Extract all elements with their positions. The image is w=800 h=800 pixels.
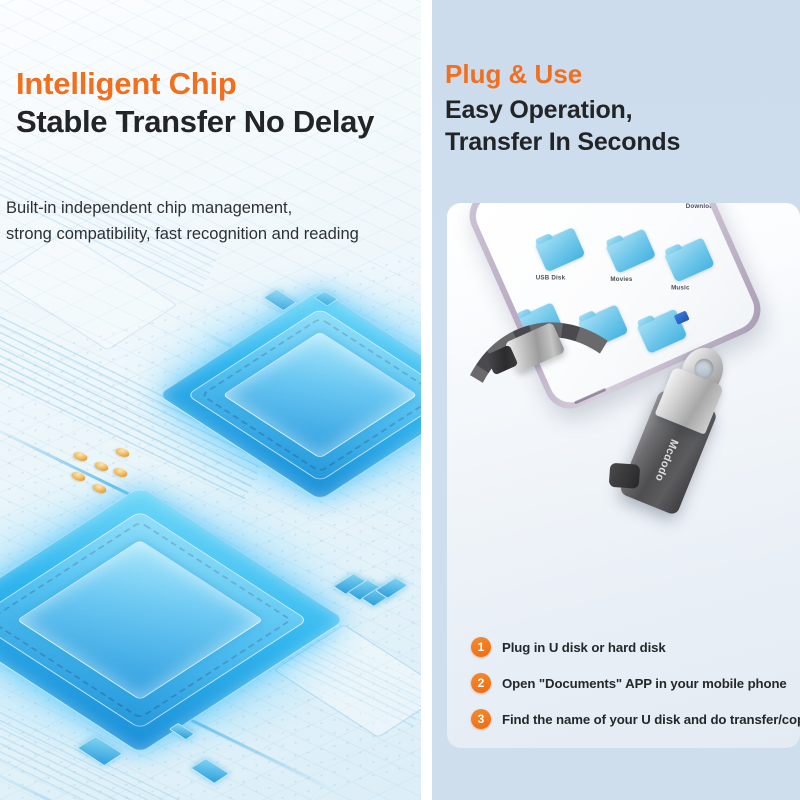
right-heading-accent: Plug & Use (445, 60, 795, 89)
step-item: 2 Open "Documents" APP in your mobile ph… (471, 673, 800, 693)
left-body-line-1: Built-in independent chip management, (6, 196, 421, 222)
cpu-chip-lower (0, 486, 346, 753)
folder-label-usb-disk: USB Disk (536, 275, 565, 282)
step-item: 1 Plug in U disk or hard disk (471, 637, 800, 657)
step-label: Open "Documents" APP in your mobile phon… (502, 676, 787, 691)
step-item: 3 Find the name of your U disk and do tr… (471, 709, 800, 729)
product-feature-banner: Intelligent Chip Stable Transfer No Dela… (0, 0, 800, 800)
step-number-badge: 1 (471, 637, 491, 657)
left-body-line-2: strong compatibility, fast recognition a… (6, 222, 421, 248)
right-text-block: Plug & Use Easy Operation, Transfer In S… (445, 60, 795, 158)
folder-icon (535, 227, 586, 272)
folder-label-music: Music (671, 285, 690, 292)
folder-icon (664, 237, 715, 282)
folder-label-movies: Movies (610, 276, 632, 283)
instruction-steps-list: 1 Plug in U disk or hard disk 2 Open "Do… (471, 637, 800, 745)
left-text-block: Intelligent Chip Stable Transfer No Dela… (16, 68, 416, 139)
left-body-text: Built-in independent chip management, st… (6, 196, 421, 247)
left-heading-main: Stable Transfer No Delay (16, 105, 416, 139)
step-label: Find the name of your U disk and do tran… (502, 712, 800, 727)
folder-icon (605, 228, 656, 273)
right-feature-panel: Plug & Use Easy Operation, Transfer In S… (432, 0, 800, 800)
step-number-badge: 2 (471, 673, 491, 693)
product-photo-card: USB Disk Movies Music Documents Download (447, 203, 800, 748)
step-number-badge: 3 (471, 709, 491, 729)
right-heading-main-line-1: Easy Operation, (445, 94, 795, 126)
step-label: Plug in U disk or hard disk (502, 640, 666, 655)
left-feature-panel: Intelligent Chip Stable Transfer No Dela… (0, 0, 421, 800)
right-heading-main-line-2: Transfer In Seconds (445, 126, 795, 158)
left-heading-accent: Intelligent Chip (16, 68, 416, 101)
brand-logo-text: Mcdodo (651, 435, 681, 486)
adapter-connector-tip (609, 463, 641, 489)
